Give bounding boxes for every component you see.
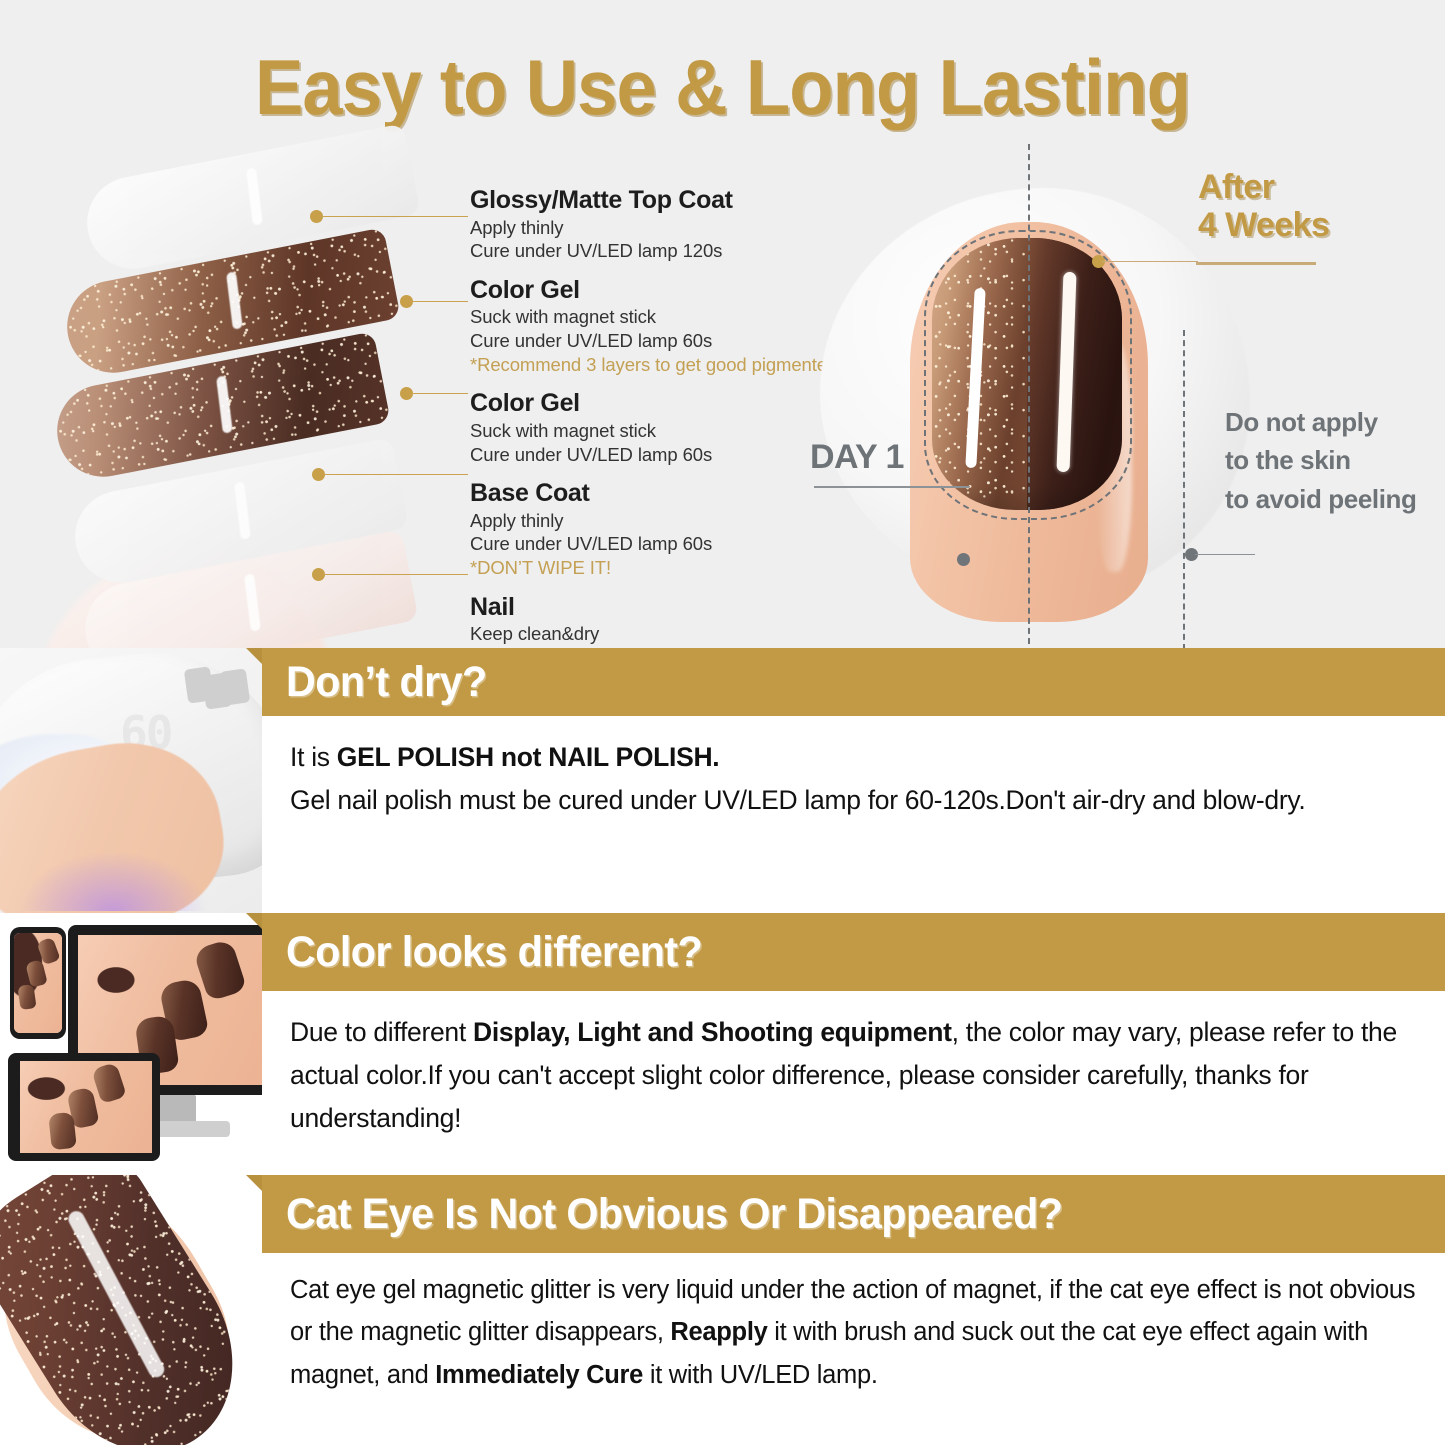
faq-content: Color looks different? Due to different … xyxy=(262,913,1445,1175)
faq-row-cat-eye: Cat Eye Is Not Obvious Or Disappeared? C… xyxy=(0,1175,1445,1445)
leader-line-after-4weeks xyxy=(1102,261,1198,262)
faq-text-strong: Immediately Cure xyxy=(435,1361,643,1389)
glitter-nail-photo xyxy=(0,1175,262,1445)
faq-heading-bar: Don’t dry? xyxy=(262,648,1445,716)
after-4-weeks-label: After 4 Weeks xyxy=(1198,168,1329,244)
faq-heading: Don’t dry? xyxy=(286,658,487,707)
leader-line-color-gel-2 xyxy=(410,393,468,394)
leader-line-color-gel-1 xyxy=(410,301,468,302)
corner-accent xyxy=(246,913,262,929)
uv-light-glow xyxy=(18,851,208,911)
faq-text-run: Due to different xyxy=(290,1017,473,1047)
faq-paragraph-container: Due to different Display, Light and Shoo… xyxy=(262,991,1445,1140)
layer-step: Apply thinly xyxy=(470,509,850,533)
dashed-divider-center xyxy=(1028,144,1030,644)
corner-accent xyxy=(246,1175,262,1191)
faq-paragraph: Due to different Display, Light and Shoo… xyxy=(290,1011,1419,1140)
layer-label-item: Nail Keep clean&dry xyxy=(470,593,850,646)
layer-step: Keep clean&dry xyxy=(470,622,850,646)
layer-step: Suck with magnet stick xyxy=(470,419,850,443)
after-label-line1: After xyxy=(1198,168,1329,206)
layer-name: Color Gel xyxy=(470,389,850,419)
layer-step: Cure under UV/LED lamp 120s xyxy=(470,239,850,263)
hero-section: Easy to Use & Long Lasting Glossy/Matte … xyxy=(0,0,1445,648)
faq-text-strong: Reapply xyxy=(670,1318,767,1346)
faq-heading-bar: Color looks different? xyxy=(262,913,1445,991)
phone-screen xyxy=(14,933,62,1033)
faq-heading: Cat Eye Is Not Obvious Or Disappeared? xyxy=(286,1190,1062,1239)
faq-paragraph-container: Cat eye gel magnetic glitter is very liq… xyxy=(262,1253,1445,1396)
layer-note: *DON’T WIPE IT! xyxy=(470,556,850,580)
skin-warning-line2: to the skin xyxy=(1225,441,1417,479)
faq-heading-bar: Cat Eye Is Not Obvious Or Disappeared? xyxy=(262,1175,1445,1253)
layer-label-item: Glossy/Matte Top Coat Apply thinly Cure … xyxy=(470,186,850,263)
faq-text-run: it with UV/LED lamp. xyxy=(643,1361,878,1389)
faq-text-run: Gel nail polish must be cured under UV/L… xyxy=(290,785,1305,815)
layer-step: Cure under UV/LED lamp 60s xyxy=(470,443,850,467)
devices-photo xyxy=(0,913,262,1175)
faq-content: Cat Eye Is Not Obvious Or Disappeared? C… xyxy=(262,1175,1445,1445)
faq-text-strong: Display, Light and Shooting equipment xyxy=(473,1017,952,1047)
leader-line-base-coat xyxy=(322,474,468,475)
layer-name: Glossy/Matte Top Coat xyxy=(470,186,850,216)
layer-step: Suck with magnet stick xyxy=(470,305,850,329)
skin-warning-label: Do not apply to the skin to avoid peelin… xyxy=(1225,403,1417,518)
faq-row-dont-dry: 60 Don’t dry? It is GEL POLISH not NAIL … xyxy=(0,648,1445,913)
day1-label: DAY 1 xyxy=(810,438,904,477)
layer-label-list: Glossy/Matte Top Coat Apply thinly Cure … xyxy=(470,186,850,648)
layer-step: Cure under UV/LED lamp 60s xyxy=(470,329,850,353)
layer-step: Cure under UV/LED lamp 60s xyxy=(470,532,850,556)
faq-heading: Color looks different? xyxy=(286,928,702,977)
leader-line-nail xyxy=(322,574,468,575)
dashed-divider-right xyxy=(1183,330,1185,648)
skin-warning-line1: Do not apply xyxy=(1225,403,1417,441)
leader-line-skin-warning xyxy=(1195,554,1255,555)
layer-step: Apply thinly xyxy=(470,216,850,240)
infographic-page: Easy to Use & Long Lasting Glossy/Matte … xyxy=(0,0,1445,1445)
faq-text-strong: GEL POLISH not NAIL POLISH. xyxy=(337,742,720,772)
layer-label-item: Color Gel Suck with magnet stick Cure un… xyxy=(470,276,850,377)
layer-label-item: Base Coat Apply thinly Cure under UV/LED… xyxy=(470,479,850,580)
leader-line-top-coat xyxy=(320,216,468,217)
after-label-underline xyxy=(1196,262,1316,265)
faq-text-run: It is xyxy=(290,742,337,772)
layer-name: Base Coat xyxy=(470,479,850,509)
layer-name: Color Gel xyxy=(470,276,850,306)
uv-lamp-photo: 60 xyxy=(0,648,262,913)
faq-paragraph: Gel nail polish must be cured under UV/L… xyxy=(290,779,1419,822)
faq-paragraph-container: It is GEL POLISH not NAIL POLISH. Gel na… xyxy=(262,716,1445,822)
layer-name: Nail xyxy=(470,593,850,623)
faq-content: Don’t dry? It is GEL POLISH not NAIL POL… xyxy=(262,648,1445,913)
faq-paragraph: Cat eye gel magnetic glitter is very liq… xyxy=(290,1269,1419,1396)
faq-row-color-different: Color looks different? Due to different … xyxy=(0,913,1445,1175)
faq-paragraph: It is GEL POLISH not NAIL POLISH. xyxy=(290,736,1419,779)
corner-accent xyxy=(246,648,262,664)
layer-label-item: Color Gel Suck with magnet stick Cure un… xyxy=(470,389,850,466)
lamp-button xyxy=(220,668,250,705)
tablet-screen xyxy=(20,1061,152,1153)
leader-line-day1 xyxy=(820,486,970,487)
leader-dot-day1 xyxy=(957,553,970,566)
layer-note: *Recommend 3 layers to get good pigmente… xyxy=(470,353,850,377)
after-label-line2: 4 Weeks xyxy=(1198,206,1329,244)
skin-warning-line3: to avoid peeling xyxy=(1225,480,1417,518)
nail-comparison-illustration: DAY 1 After 4 Weeks Do not apply to the … xyxy=(800,150,1445,648)
page-title: Easy to Use & Long Lasting xyxy=(51,42,1395,133)
